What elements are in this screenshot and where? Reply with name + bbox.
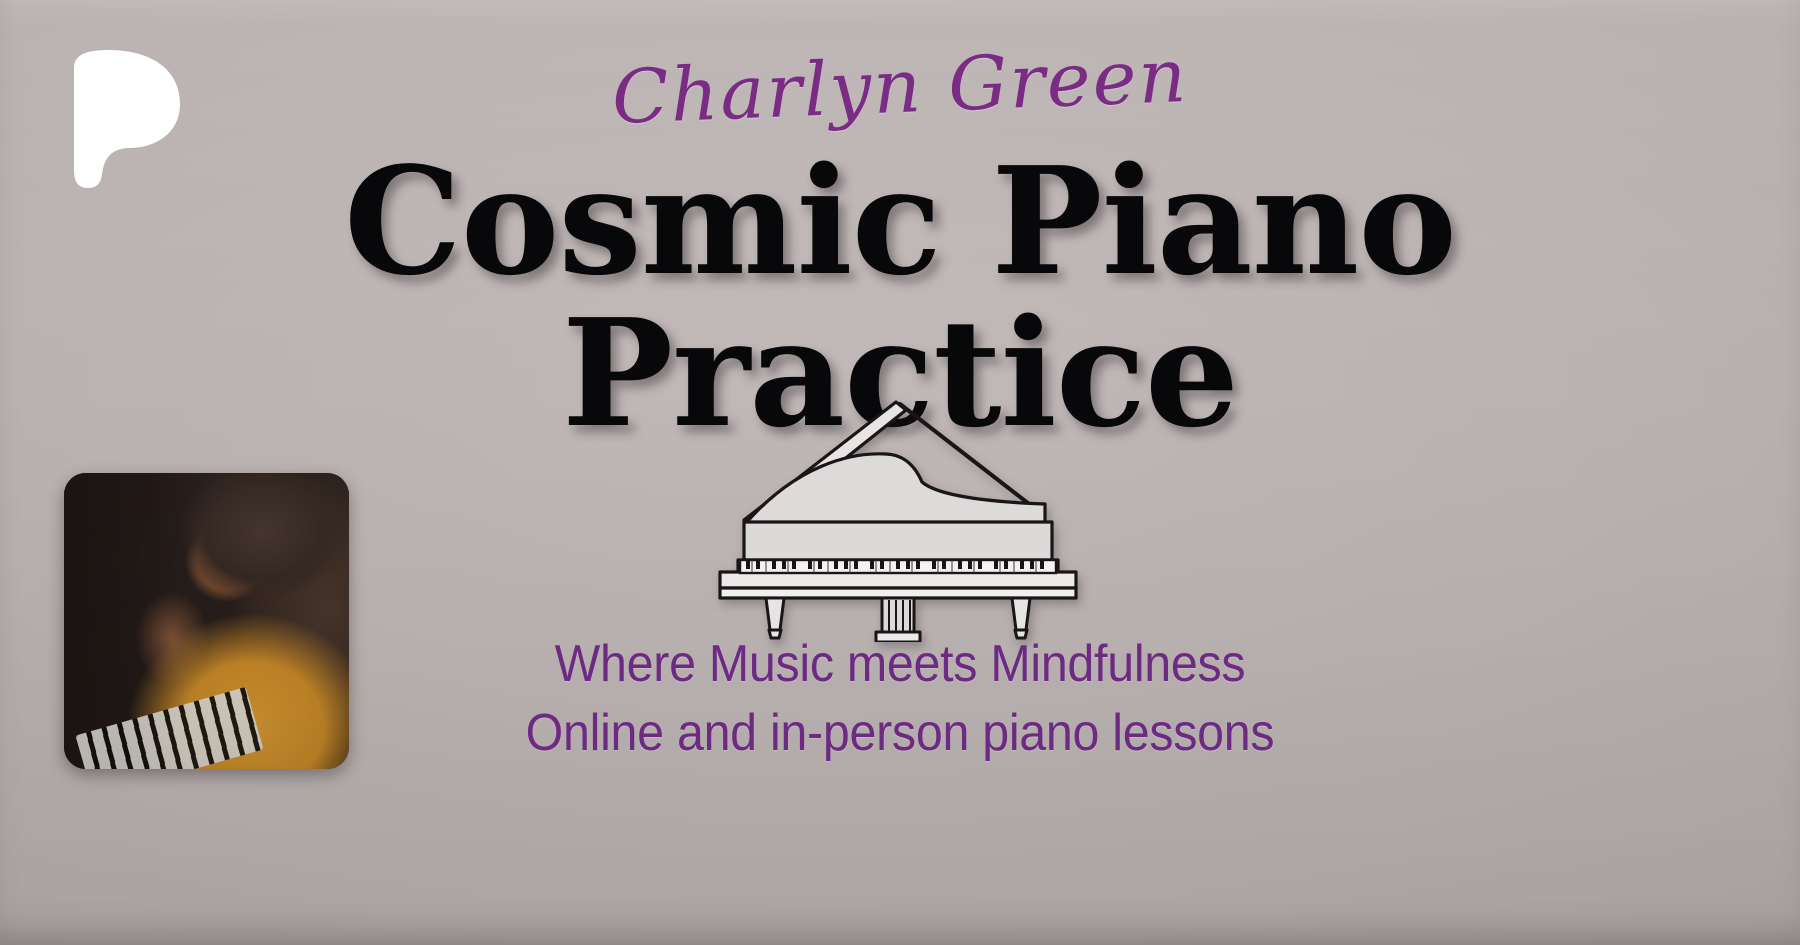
banner-tagline: Where Music meets Mindfulness Online and… [250, 630, 1550, 767]
grand-piano-illustration [700, 392, 1100, 642]
creator-avatar[interactable] [64, 473, 349, 769]
grand-piano-icon [700, 392, 1100, 642]
tagline-line-2: Online and in-person piano lessons [296, 699, 1505, 768]
banner-title-line-1: Cosmic Piano [250, 150, 1550, 294]
patreon-logo[interactable] [68, 48, 186, 190]
patreon-logo-icon [68, 48, 186, 190]
tagline-line-1: Where Music meets Mindfulness [296, 630, 1505, 699]
piano-keys [740, 560, 1056, 573]
creator-page: Charlyn Green Cosmic Piano Practice [0, 0, 1800, 945]
